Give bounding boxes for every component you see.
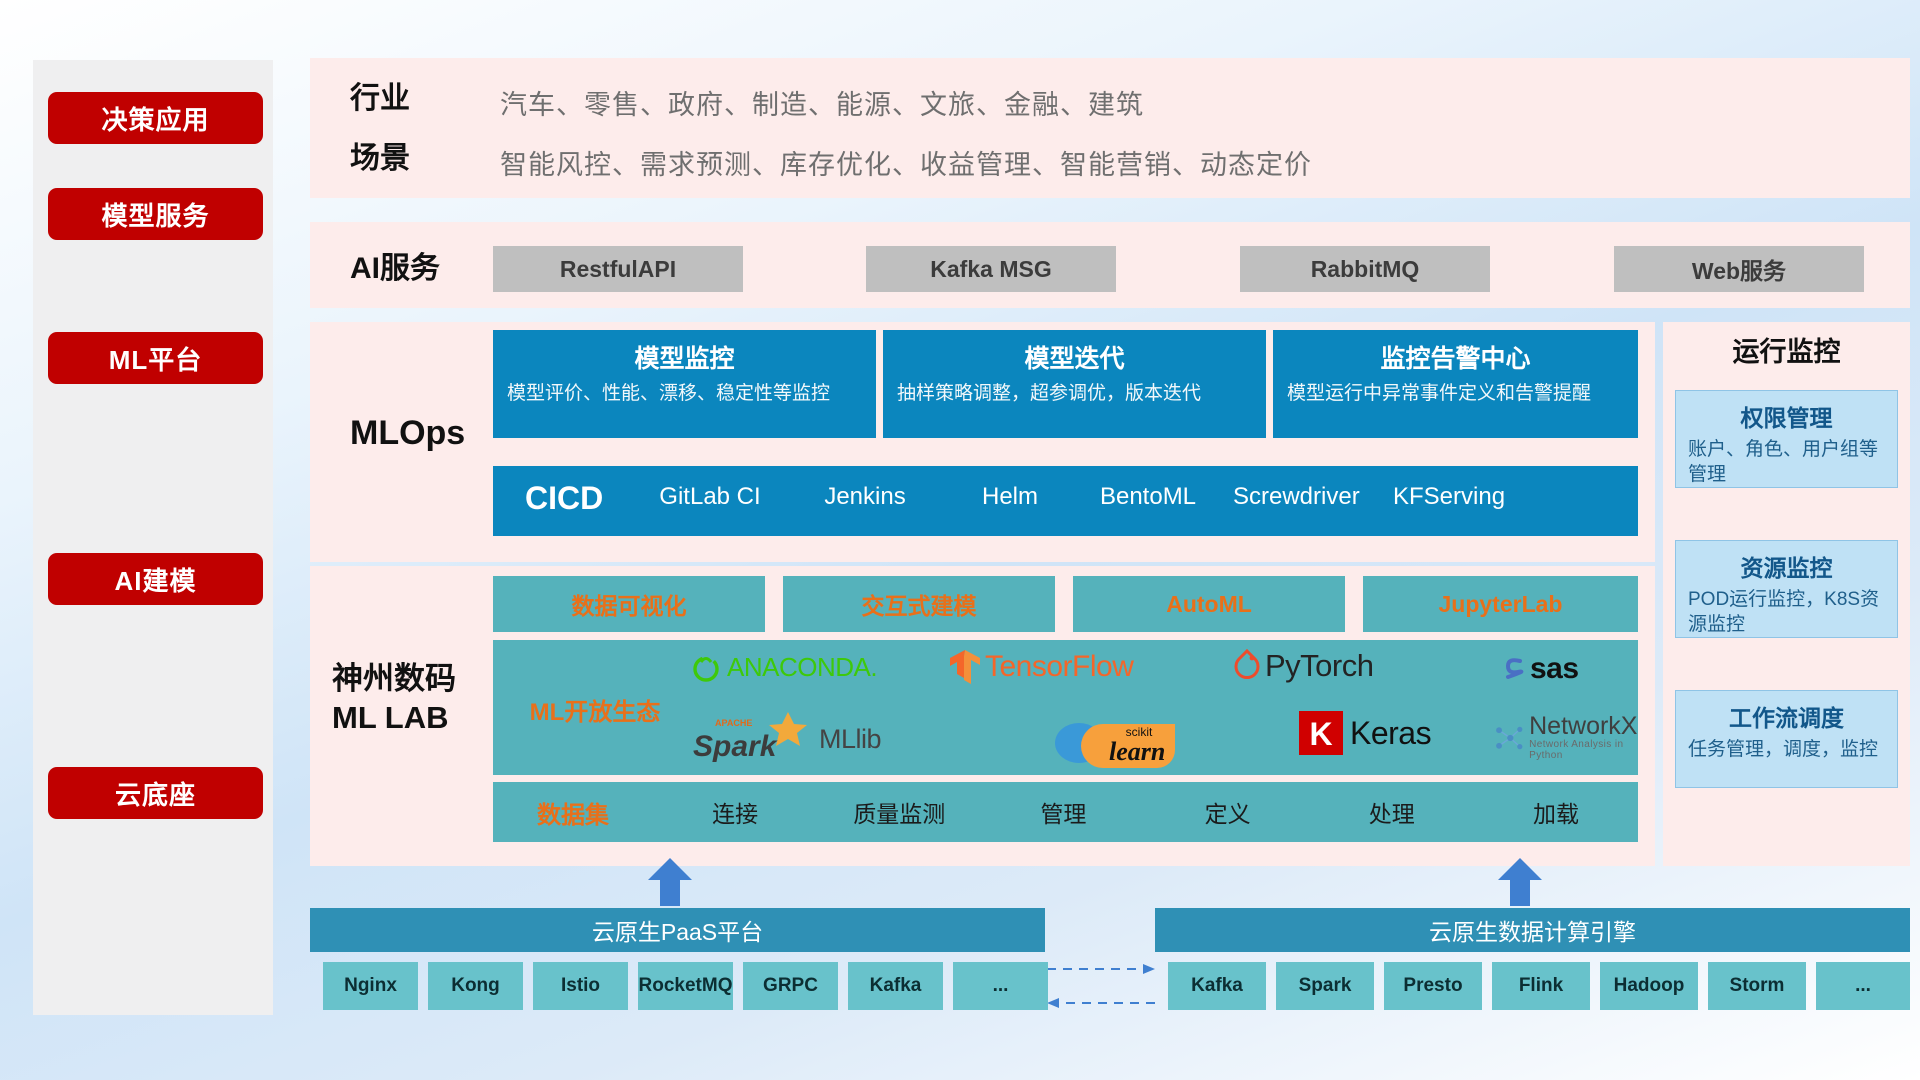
rail-item-model-service[interactable]: 模型服务 [48, 188, 263, 240]
engine-chip-kafka[interactable]: Kafka [1168, 962, 1266, 1010]
rail-item-ml-platform[interactable]: ML平台 [48, 332, 263, 384]
paas-chip-rocketmq[interactable]: RocketMQ [638, 962, 733, 1010]
service-chip-rabbitmq[interactable]: RabbitMQ [1240, 246, 1490, 292]
keras-logo-text: Keras [1350, 715, 1431, 752]
service-chip-kafka-msg[interactable]: Kafka MSG [866, 246, 1116, 292]
ml-lab-label-line2: ML LAB [332, 699, 456, 738]
industry-list: 汽车、零售、政府、制造、能源、文旅、金融、建筑 [500, 83, 1144, 122]
service-chip-restfulapi[interactable]: RestfulAPI [493, 246, 743, 292]
scenario-list: 智能风控、需求预测、库存优化、收益管理、智能营销、动态定价 [500, 143, 1312, 182]
cicd-bar: CICD GitLab CI Jenkins Helm BentoML Scre… [493, 466, 1638, 536]
card-desc: 任务管理，调度，监控 [1688, 738, 1885, 763]
rail-item-ai-modeling[interactable]: AI建模 [48, 553, 263, 605]
keras-logo: K Keras [1298, 710, 1431, 756]
spark-mllib-logo: APACHE Spark MLlib [693, 710, 881, 768]
engine-chip-spark[interactable]: Spark [1276, 962, 1374, 1010]
cicd-item-gitlab-ci[interactable]: GitLab CI [655, 484, 765, 511]
svg-text:learn: learn [1109, 737, 1165, 766]
run-monitor-card-workflow[interactable]: 工作流调度 任务管理，调度，监控 [1675, 690, 1898, 788]
cicd-item-bentoml[interactable]: BentoML [1093, 484, 1203, 511]
cicd-item-helm[interactable]: Helm [955, 484, 1065, 511]
run-monitor-title: 运行监控 [1663, 330, 1910, 369]
rail-item-cloud-base[interactable]: 云底座 [48, 767, 263, 819]
networkx-logo: NetworkX Network Analysis in Python [1493, 714, 1642, 761]
card-title: 模型迭代 [897, 339, 1252, 375]
dataset-row: 数据集 连接 质量监测 管理 定义 处理 加载 [493, 782, 1638, 842]
rail-item-decision-app[interactable]: 决策应用 [48, 92, 263, 144]
dataset-item-loading[interactable]: 加载 [1474, 795, 1638, 829]
networkx-logo-subtitle: Network Analysis in Python [1529, 739, 1642, 761]
networkx-logo-text: NetworkX [1529, 714, 1642, 739]
dataset-item-connect[interactable]: 连接 [653, 795, 817, 829]
scikit-learn-logo: scikit learn [1053, 710, 1203, 768]
architecture-diagram: 决策应用 模型服务 ML平台 AI建模 云底座 行业 汽车、零售、政府、制造、能… [0, 0, 1920, 1080]
spark-mllib-logo-text: MLlib [819, 724, 881, 755]
paas-chip-more[interactable]: ... [953, 962, 1048, 1010]
engine-chip-presto[interactable]: Presto [1384, 962, 1482, 1010]
engine-chip-more[interactable]: ... [1816, 962, 1910, 1010]
lab-tab-automl[interactable]: AutoML [1073, 576, 1345, 632]
engine-chip-hadoop[interactable]: Hadoop [1600, 962, 1698, 1010]
card-title: 工作流调度 [1688, 699, 1885, 733]
pytorch-logo: PyTorch [1233, 648, 1373, 684]
service-chip-web-service[interactable]: Web服务 [1614, 246, 1864, 292]
card-title: 权限管理 [1688, 399, 1885, 433]
mlops-card-model-iteration[interactable]: 模型迭代 抽样策略调整，超参调优，版本迭代 [883, 330, 1266, 438]
ml-lab-label-line1: 神州数码 [332, 660, 456, 699]
run-monitor-card-permission[interactable]: 权限管理 账户、角色、用户组等管理 [1675, 390, 1898, 488]
card-title: 模型监控 [507, 339, 862, 375]
ml-open-ecosystem-panel: ML开放生态 ANACONDA. TensorFlow PyTorch sas [493, 640, 1638, 775]
cicd-item-screwdriver[interactable]: Screwdriver [1233, 484, 1343, 511]
card-desc: 模型评价、性能、漂移、稳定性等监控 [507, 381, 862, 406]
industry-label: 行业 [350, 80, 410, 118]
arrow-up-paas-icon [640, 858, 700, 906]
paas-chip-nginx[interactable]: Nginx [323, 962, 418, 1010]
ml-lab-label: 神州数码 ML LAB [332, 660, 456, 738]
engine-chip-storm[interactable]: Storm [1708, 962, 1806, 1010]
lab-tab-jupyterlab[interactable]: JupyterLab [1363, 576, 1638, 632]
engine-bar[interactable]: 云原生数据计算引擎 [1155, 908, 1910, 952]
engine-chip-flink[interactable]: Flink [1492, 962, 1590, 1010]
tensorflow-logo: TensorFlow [948, 648, 1133, 686]
svg-text:APACHE: APACHE [715, 718, 752, 728]
svg-text:K: K [1309, 716, 1332, 752]
svg-text:Spark: Spark [693, 730, 778, 763]
card-desc: 账户、角色、用户组等管理 [1688, 438, 1885, 487]
anaconda-logo-text: ANACONDA. [727, 652, 877, 683]
scenario-label: 场景 [350, 140, 410, 178]
arrow-up-engine-icon [1490, 858, 1550, 906]
card-desc: 模型运行中异常事件定义和告警提醒 [1287, 381, 1624, 406]
paas-bar[interactable]: 云原生PaaS平台 [310, 908, 1045, 952]
lab-tab-data-visualization[interactable]: 数据可视化 [493, 576, 765, 632]
sas-logo-text: sas [1530, 652, 1579, 686]
dataset-item-processing[interactable]: 处理 [1310, 795, 1474, 829]
mlops-label: MLOps [350, 412, 465, 455]
card-title: 资源监控 [1688, 549, 1885, 583]
dataset-label: 数据集 [493, 795, 653, 830]
card-title: 监控告警中心 [1287, 339, 1624, 375]
tensorflow-logo-text: TensorFlow [985, 650, 1133, 684]
paas-chip-istio[interactable]: Istio [533, 962, 628, 1010]
run-monitor-card-resource[interactable]: 资源监控 POD运行监控，K8S资源监控 [1675, 540, 1898, 638]
paas-chip-kafka[interactable]: Kafka [848, 962, 943, 1010]
dataset-item-definition[interactable]: 定义 [1146, 795, 1310, 829]
card-desc: POD运行监控，K8S资源监控 [1688, 588, 1885, 637]
dataset-item-quality-monitoring[interactable]: 质量监测 [817, 795, 981, 829]
ml-open-ecosystem-label: ML开放生态 [515, 692, 675, 727]
pytorch-logo-text: PyTorch [1265, 648, 1373, 684]
paas-chip-grpc[interactable]: GRPC [743, 962, 838, 1010]
dataset-item-management[interactable]: 管理 [981, 795, 1145, 829]
cicd-item-jenkins[interactable]: Jenkins [810, 484, 920, 511]
anaconda-logo: ANACONDA. [691, 652, 877, 683]
card-desc: 抽样策略调整，超参调优，版本迭代 [897, 381, 1252, 406]
bidirectional-link-icon [1045, 955, 1157, 1015]
mlops-card-model-monitoring[interactable]: 模型监控 模型评价、性能、漂移、稳定性等监控 [493, 330, 876, 438]
cicd-item-kfserving[interactable]: KFServing [1393, 484, 1503, 511]
mlops-card-alert-center[interactable]: 监控告警中心 模型运行中异常事件定义和告警提醒 [1273, 330, 1638, 438]
sas-logo: sas [1498, 652, 1579, 686]
ai-service-label: AI服务 [350, 250, 440, 288]
lab-tab-interactive-modeling[interactable]: 交互式建模 [783, 576, 1055, 632]
paas-chip-kong[interactable]: Kong [428, 962, 523, 1010]
cicd-label: CICD [525, 480, 603, 517]
